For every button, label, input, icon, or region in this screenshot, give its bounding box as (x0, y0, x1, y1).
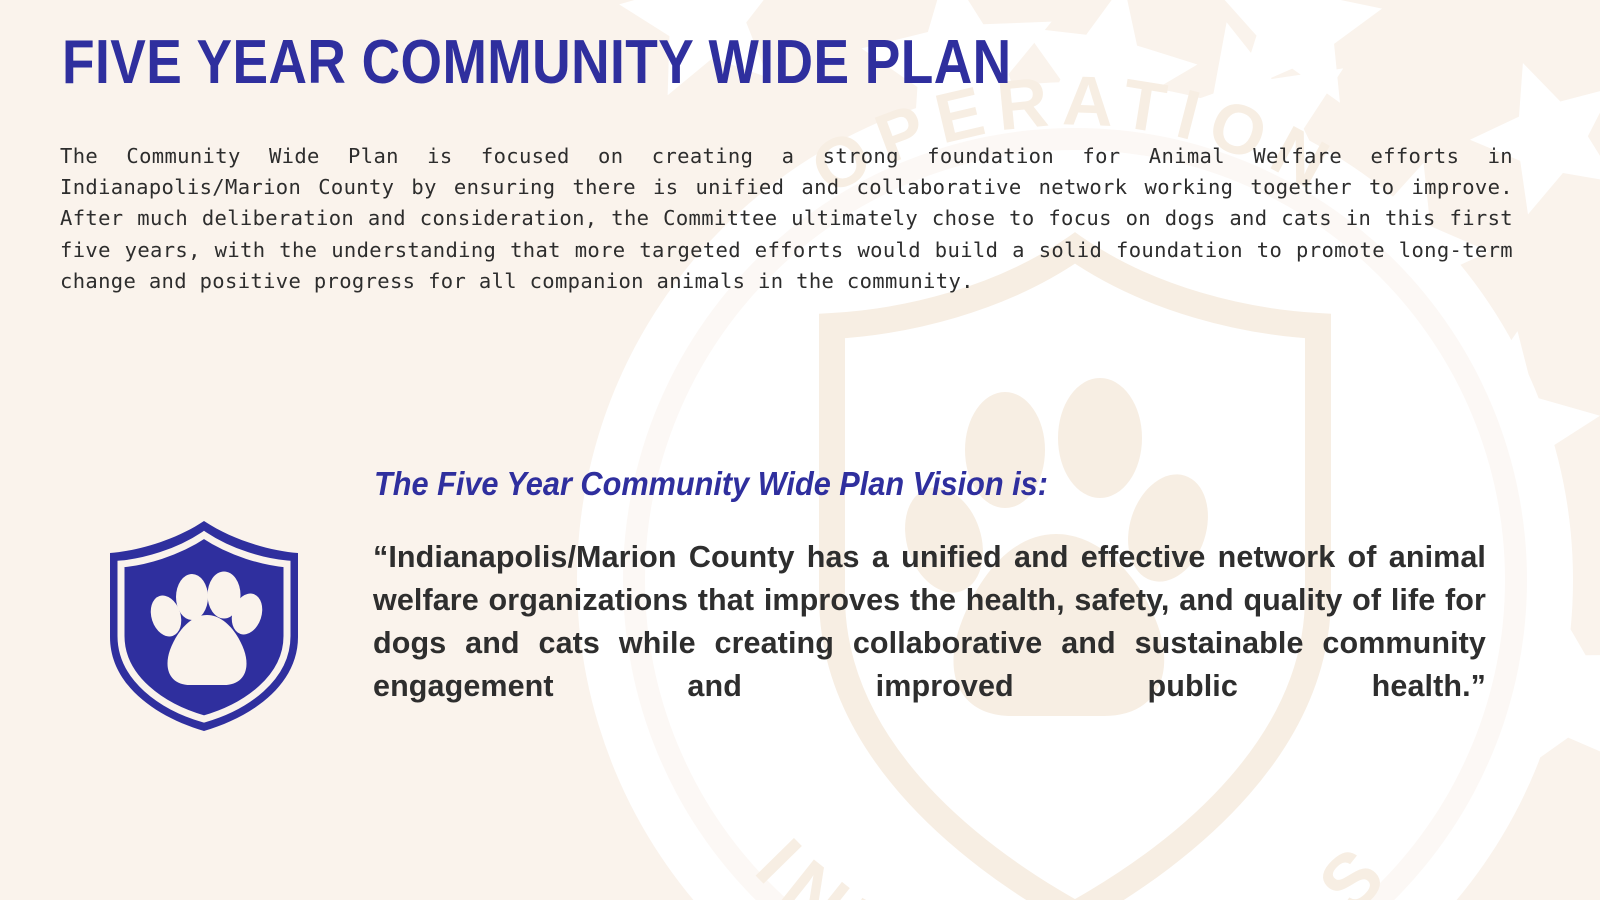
vision-section: The Five Year Community Wide Plan Vision… (0, 450, 1600, 780)
vision-quote: “Indianapolis/Marion County has a unifie… (373, 536, 1486, 751)
intro-paragraph: The Community Wide Plan is focused on cr… (60, 141, 1513, 297)
page-title: FIVE YEAR COMMUNITY WIDE PLAN (62, 30, 1012, 96)
slide-canvas: OPERATION INDY ANIMALS (0, 0, 1600, 900)
vision-heading: The Five Year Community Wide Plan Vision… (374, 464, 1048, 504)
